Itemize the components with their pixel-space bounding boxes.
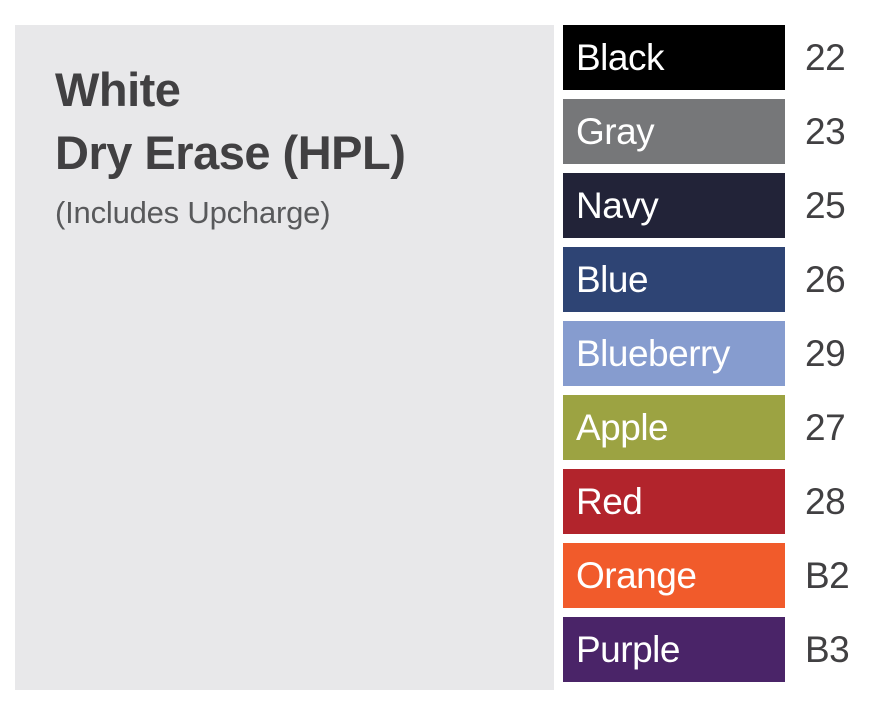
- color-code-label: 29: [785, 321, 868, 386]
- finish-selector-board: White Dry Erase (HPL) (Includes Upcharge…: [0, 0, 882, 711]
- color-name-label: Navy: [576, 187, 658, 224]
- finish-description-panel: White Dry Erase (HPL) (Includes Upcharge…: [15, 25, 554, 690]
- finish-upcharge-note: (Includes Upcharge): [55, 192, 554, 234]
- color-code-label: 25: [785, 173, 868, 238]
- color-code-label: 28: [785, 469, 868, 534]
- color-chip[interactable]: Apple: [563, 395, 785, 460]
- swatch-row[interactable]: Red28: [563, 469, 868, 534]
- swatch-row[interactable]: OrangeB2: [563, 543, 868, 608]
- swatch-row[interactable]: Blueberry29: [563, 321, 868, 386]
- color-name-label: Blue: [576, 261, 648, 298]
- color-chip[interactable]: Navy: [563, 173, 785, 238]
- color-chip[interactable]: Blue: [563, 247, 785, 312]
- color-chip[interactable]: Purple: [563, 617, 785, 682]
- swatch-row[interactable]: Navy25: [563, 173, 868, 238]
- color-name-label: Purple: [576, 631, 680, 668]
- color-chip[interactable]: Blueberry: [563, 321, 785, 386]
- color-code-label: 23: [785, 99, 868, 164]
- color-code-label: 26: [785, 247, 868, 312]
- color-name-label: Apple: [576, 409, 668, 446]
- color-chip[interactable]: Orange: [563, 543, 785, 608]
- color-code-label: B3: [785, 617, 868, 682]
- color-name-label: Blueberry: [576, 335, 730, 372]
- color-chip[interactable]: Gray: [563, 99, 785, 164]
- color-code-label: 27: [785, 395, 868, 460]
- color-code-label: B2: [785, 543, 868, 608]
- swatch-row[interactable]: PurpleB3: [563, 617, 868, 682]
- color-code-label: 22: [785, 25, 868, 90]
- color-swatch-list: Black22Gray23Navy25Blue26Blueberry29Appl…: [563, 25, 868, 691]
- swatch-row[interactable]: Apple27: [563, 395, 868, 460]
- swatch-row[interactable]: Gray23: [563, 99, 868, 164]
- color-chip[interactable]: Red: [563, 469, 785, 534]
- swatch-row[interactable]: Black22: [563, 25, 868, 90]
- color-name-label: Gray: [576, 113, 654, 150]
- color-name-label: Red: [576, 483, 642, 520]
- color-name-label: Orange: [576, 557, 696, 594]
- swatch-row[interactable]: Blue26: [563, 247, 868, 312]
- finish-title-line-1: White: [55, 59, 554, 122]
- color-name-label: Black: [576, 39, 664, 76]
- color-chip[interactable]: Black: [563, 25, 785, 90]
- finish-title-line-2: Dry Erase (HPL): [55, 122, 554, 185]
